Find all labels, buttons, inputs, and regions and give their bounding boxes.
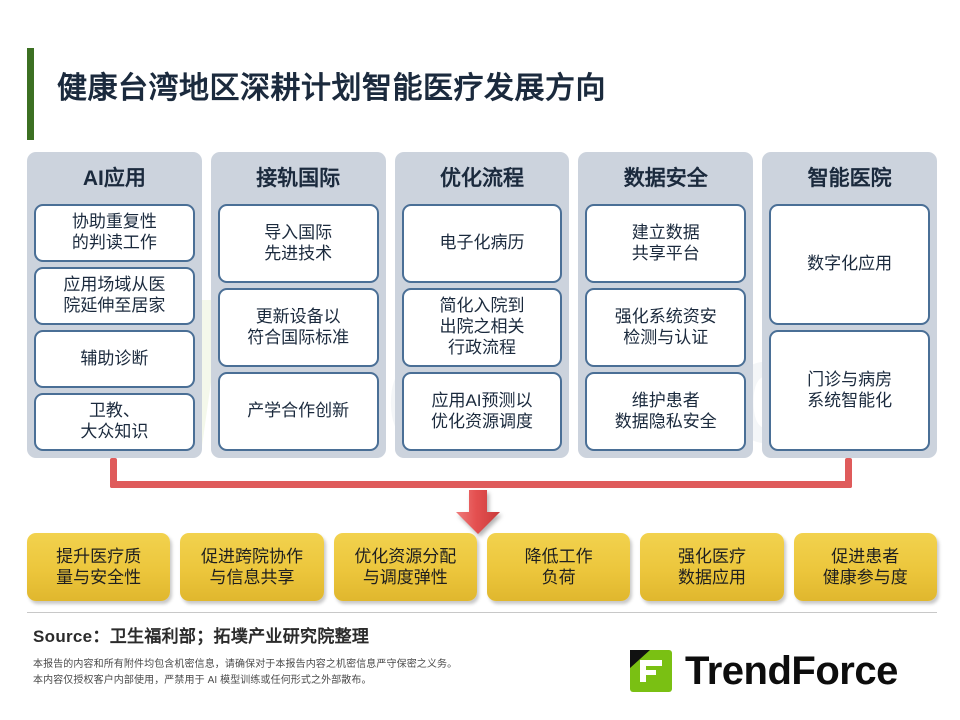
title-accent-bar xyxy=(27,48,34,140)
pillar-card: 应用场域从医 院延伸至居家 xyxy=(34,267,195,325)
pillar-card: 电子化病历 xyxy=(402,204,563,283)
outcome-box: 降低工作 负荷 xyxy=(487,533,630,601)
pillar-card: 协助重复性 的判读工作 xyxy=(34,204,195,262)
pillar-header: AI应用 xyxy=(34,159,195,199)
page-title: 健康台湾地区深耕计划智能医疗发展方向 xyxy=(57,63,606,107)
pillar-card-list: 建立数据 共享平台强化系统资安 检测与认证维护患者 数据隐私安全 xyxy=(585,204,746,451)
pillar-card: 强化系统资安 检测与认证 xyxy=(585,288,746,367)
pillar-card-list: 电子化病历简化入院到 出院之相关 行政流程应用AI预测以 优化资源调度 xyxy=(402,204,563,451)
pillar-card: 建立数据 共享平台 xyxy=(585,204,746,283)
pillar-card-list: 协助重复性 的判读工作应用场域从医 院延伸至居家辅助诊断卫教、 大众知识 xyxy=(34,204,195,451)
pillar-column: 数据安全建立数据 共享平台强化系统资安 检测与认证维护患者 数据隐私安全 xyxy=(578,152,753,458)
pillar-card-list: 导入国际 先进技术更新设备以 符合国际标准产学合作创新 xyxy=(218,204,379,451)
pillar-column: 智能医院数字化应用门诊与病房 系统智能化 xyxy=(762,152,937,458)
pillar-card: 产学合作创新 xyxy=(218,372,379,451)
trendforce-logo-text: TrendForce xyxy=(685,648,898,694)
pillar-column: 接轨国际导入国际 先进技术更新设备以 符合国际标准产学合作创新 xyxy=(211,152,386,458)
trendforce-logo: TrendForce xyxy=(628,645,936,697)
outcome-box: 促进跨院协作 与信息共享 xyxy=(180,533,323,601)
footer-divider xyxy=(27,612,937,613)
outcome-box: 提升医疗质 量与安全性 xyxy=(27,533,170,601)
pillar-column: 优化流程电子化病历简化入院到 出院之相关 行政流程应用AI预测以 优化资源调度 xyxy=(395,152,570,458)
outcome-boxes: 提升医疗质 量与安全性促进跨院协作 与信息共享优化资源分配 与调度弹性降低工作 … xyxy=(27,533,937,601)
outcome-box: 优化资源分配 与调度弹性 xyxy=(334,533,477,601)
pillar-header: 优化流程 xyxy=(402,159,563,199)
connector-bottom-rail xyxy=(110,481,852,488)
pillar-columns: AI应用协助重复性 的判读工作应用场域从医 院延伸至居家辅助诊断卫教、 大众知识… xyxy=(27,152,937,458)
pillar-card: 维护患者 数据隐私安全 xyxy=(585,372,746,451)
pillar-header: 智能医院 xyxy=(769,159,930,199)
outcome-box: 促进患者 健康参与度 xyxy=(794,533,937,601)
pillar-card: 简化入院到 出院之相关 行政流程 xyxy=(402,288,563,367)
pillar-card: 辅助诊断 xyxy=(34,330,195,388)
pillar-column: AI应用协助重复性 的判读工作应用场域从医 院延伸至居家辅助诊断卫教、 大众知识 xyxy=(27,152,202,458)
pillar-card-list: 数字化应用门诊与病房 系统智能化 xyxy=(769,204,930,451)
pillar-card: 导入国际 先进技术 xyxy=(218,204,379,283)
disclaimer-line-1: 本报告的内容和所有附件均包含机密信息，请确保对于本报告内容之机密信息严守保密之义… xyxy=(33,655,457,670)
disclaimer-line-2: 本内容仅授权客户内部使用，严禁用于 AI 模型训练或任何形式之外部散布。 xyxy=(33,671,372,686)
slide-root: TrendForce 健康台湾地区深耕计划智能医疗发展方向 AI应用协助重复性 … xyxy=(0,0,960,720)
pillar-card: 应用AI预测以 优化资源调度 xyxy=(402,372,563,451)
pillar-card: 门诊与病房 系统智能化 xyxy=(769,330,930,451)
flow-connector-bracket xyxy=(110,458,852,488)
pillar-header: 数据安全 xyxy=(585,159,746,199)
pillar-card: 卫教、 大众知识 xyxy=(34,393,195,451)
trendforce-logo-mark-icon xyxy=(628,648,674,694)
pillar-card: 更新设备以 符合国际标准 xyxy=(218,288,379,367)
source-line: Source：卫生福利部；拓墣产业研究院整理 xyxy=(33,622,369,647)
pillar-card: 数字化应用 xyxy=(769,204,930,325)
down-arrow-icon xyxy=(455,490,501,535)
pillar-header: 接轨国际 xyxy=(218,159,379,199)
outcome-box: 强化医疗 数据应用 xyxy=(640,533,783,601)
